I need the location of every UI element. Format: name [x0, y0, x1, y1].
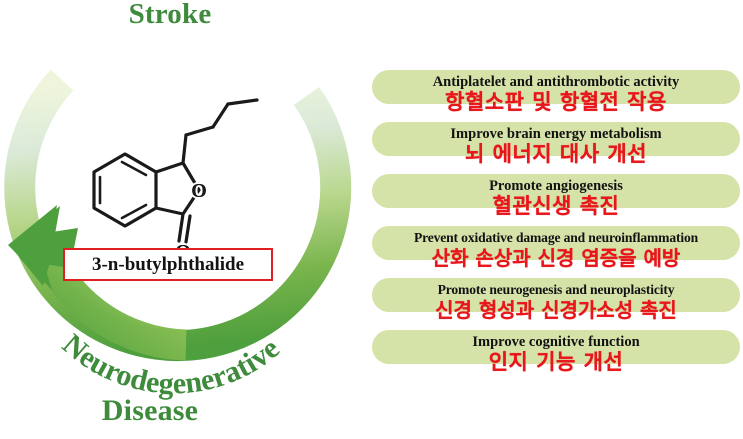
effect-item-2: Improve brain energy metabolism 뇌 에너지 대사…: [372, 122, 740, 156]
ring-oxygen-glyph: O: [191, 180, 207, 202]
effect-ko-5: 신경 형성과 신경가소성 촉진: [372, 298, 740, 322]
effect-en-1: Antiplatelet and antithrombotic activity: [372, 72, 740, 92]
effect-en-3: Promote angiogenesis: [372, 176, 740, 196]
cycle-arrow-graphic: Neurodegenerative: [0, 0, 370, 439]
effect-ko-6: 인지 기능 개선: [372, 350, 740, 374]
compound-name-box: 3-n-butylphthalide: [63, 248, 273, 281]
compound-name-text: 3-n-butylphthalide: [92, 254, 244, 276]
effect-item-1: Antiplatelet and antithrombotic activity…: [372, 70, 740, 104]
disease-label: Disease: [0, 394, 300, 428]
stroke-label: Stroke: [0, 0, 340, 31]
effect-en-5: Promote neurogenesis and neuroplasticity: [372, 280, 740, 300]
molecule-3-n-butylphthalide: [94, 100, 257, 242]
effect-en-6: Improve cognitive function: [372, 332, 740, 352]
effect-item-3: Promote angiogenesis 혈관신생 촉진: [372, 174, 740, 208]
effect-item-5: Promote neurogenesis and neuroplasticity…: [372, 278, 740, 312]
effect-ko-1: 항혈소판 및 항혈전 작용: [372, 90, 740, 114]
effects-panel: Antiplatelet and antithrombotic activity…: [370, 0, 743, 439]
effect-item-6: Improve cognitive function 인지 기능 개선: [372, 330, 740, 364]
effect-ko-4: 산화 손상과 신경 염증을 예방: [372, 246, 740, 270]
figure-root: Neurodegenerative: [0, 0, 743, 439]
effect-ko-2: 뇌 에너지 대사 개선: [372, 142, 740, 166]
cycle-panel: Neurodegenerative: [0, 0, 370, 439]
effect-ko-3: 혈관신생 촉진: [372, 194, 740, 218]
effect-item-4: Prevent oxidative damage and neuroinflam…: [372, 226, 740, 260]
effect-en-2: Improve brain energy metabolism: [372, 124, 740, 144]
effect-en-4: Prevent oxidative damage and neuroinflam…: [372, 228, 740, 248]
